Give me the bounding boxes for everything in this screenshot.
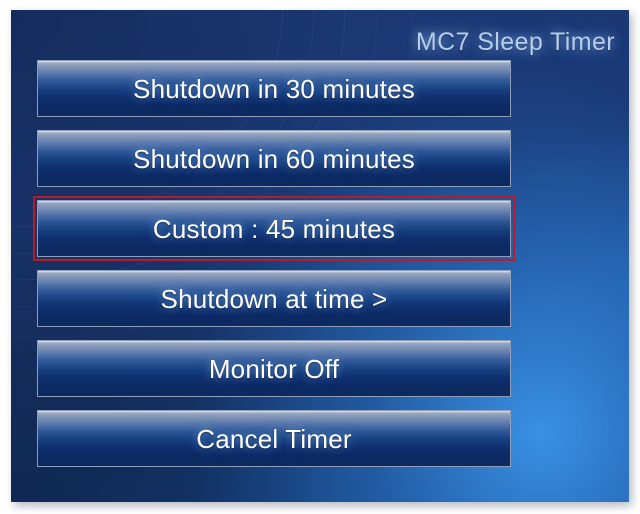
menu-item-label: Shutdown at time > bbox=[161, 286, 388, 312]
menu-item-button[interactable]: Shutdown in 30 minutes bbox=[37, 60, 511, 117]
app-window: MC7 Sleep Timer Shutdown in 30 minutes S… bbox=[11, 10, 629, 502]
menu-item-shutdown-30[interactable]: Shutdown in 30 minutes bbox=[33, 56, 515, 121]
menu-item-shutdown-60[interactable]: Shutdown in 60 minutes bbox=[33, 126, 515, 191]
menu-item-label: Shutdown in 60 minutes bbox=[133, 146, 415, 172]
menu-item-cancel-timer[interactable]: Cancel Timer bbox=[33, 406, 515, 471]
menu-item-monitor-off[interactable]: Monitor Off bbox=[33, 336, 515, 401]
menu-item-button[interactable]: Cancel Timer bbox=[37, 410, 511, 467]
menu-item-label: Monitor Off bbox=[209, 356, 339, 382]
menu-item-button[interactable]: Custom : 45 minutes bbox=[37, 200, 511, 257]
menu-item-button[interactable]: Monitor Off bbox=[37, 340, 511, 397]
menu-item-shutdown-at-time[interactable]: Shutdown at time > bbox=[33, 266, 515, 331]
menu-item-custom[interactable]: Custom : 45 minutes bbox=[33, 196, 515, 261]
menu-item-label: Custom : 45 minutes bbox=[153, 216, 395, 242]
screen-root: MC7 Sleep Timer Shutdown in 30 minutes S… bbox=[0, 0, 640, 514]
menu-item-button[interactable]: Shutdown at time > bbox=[37, 270, 511, 327]
menu-item-label: Cancel Timer bbox=[196, 426, 352, 452]
menu-item-label: Shutdown in 30 minutes bbox=[133, 76, 415, 102]
menu-item-button[interactable]: Shutdown in 60 minutes bbox=[37, 130, 511, 187]
sleep-timer-menu: Shutdown in 30 minutes Shutdown in 60 mi… bbox=[33, 56, 515, 476]
page-title: MC7 Sleep Timer bbox=[416, 30, 615, 55]
